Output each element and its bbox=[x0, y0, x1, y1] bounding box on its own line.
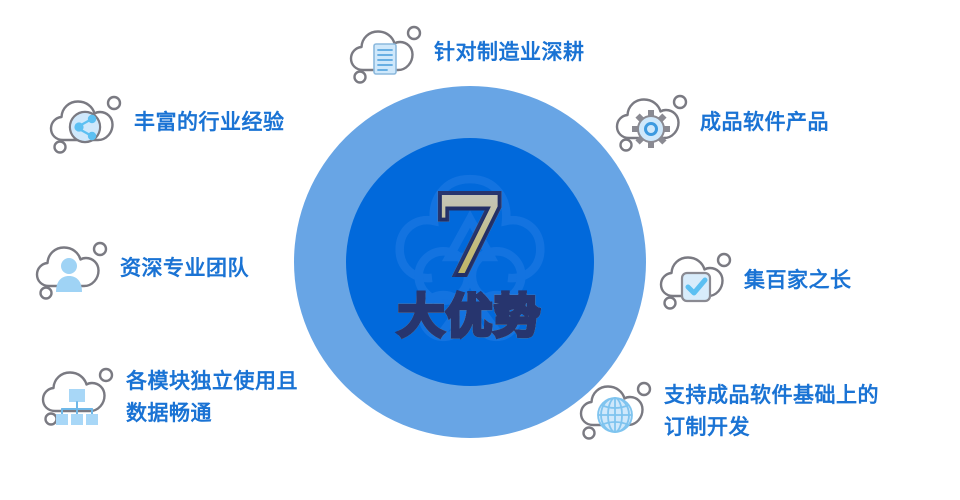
cloud-sitemap-icon bbox=[40, 367, 116, 429]
hierarchy-glyph bbox=[56, 389, 98, 425]
feature-label: 针对制造业深耕 bbox=[434, 37, 585, 69]
user-glyph bbox=[56, 258, 82, 292]
checkbox-glyph bbox=[682, 273, 710, 301]
feature-label: 资深专业团队 bbox=[120, 253, 249, 285]
cloud-gear-icon bbox=[614, 92, 690, 154]
cloud-globe-icon bbox=[578, 381, 654, 443]
advantage-label: 大优势 bbox=[398, 293, 542, 339]
feature-label: 丰富的行业经验 bbox=[134, 107, 285, 139]
feature-item-industry-experience[interactable]: 丰富的行业经验 bbox=[48, 92, 285, 154]
feature-item-senior-team[interactable]: 资深专业团队 bbox=[34, 238, 249, 300]
feature-item-custom-development[interactable]: 支持成品软件基础上的 订制开发 bbox=[578, 380, 879, 443]
feature-label: 各模块独立使用且 数据畅通 bbox=[126, 366, 298, 429]
feature-item-best-practices[interactable]: 集百家之长 bbox=[658, 250, 852, 312]
share-nodes-glyph bbox=[71, 113, 99, 141]
gear-glyph bbox=[632, 110, 670, 148]
advantage-count: 7 bbox=[431, 185, 509, 288]
feature-label: 支持成品软件基础上的 订制开发 bbox=[664, 380, 879, 443]
feature-label: 成品软件产品 bbox=[700, 107, 829, 139]
globe-glyph bbox=[598, 398, 632, 432]
feature-item-independent-modules[interactable]: 各模块独立使用且 数据畅通 bbox=[40, 366, 298, 429]
cloud-share-icon bbox=[48, 92, 124, 154]
infographic-canvas: 7 大优势 针对制造业深耕 bbox=[0, 0, 960, 500]
feature-item-finished-software[interactable]: 成品软件产品 bbox=[614, 92, 829, 154]
feature-label: 集百家之长 bbox=[744, 265, 852, 297]
cloud-checkbox-icon bbox=[658, 250, 734, 312]
cloud-document-icon bbox=[348, 22, 424, 84]
feature-item-manufacturing-focus[interactable]: 针对制造业深耕 bbox=[348, 22, 585, 84]
center-headline: 7 大优势 bbox=[346, 138, 594, 386]
cloud-user-icon bbox=[34, 238, 110, 300]
document-glyph bbox=[374, 44, 396, 74]
